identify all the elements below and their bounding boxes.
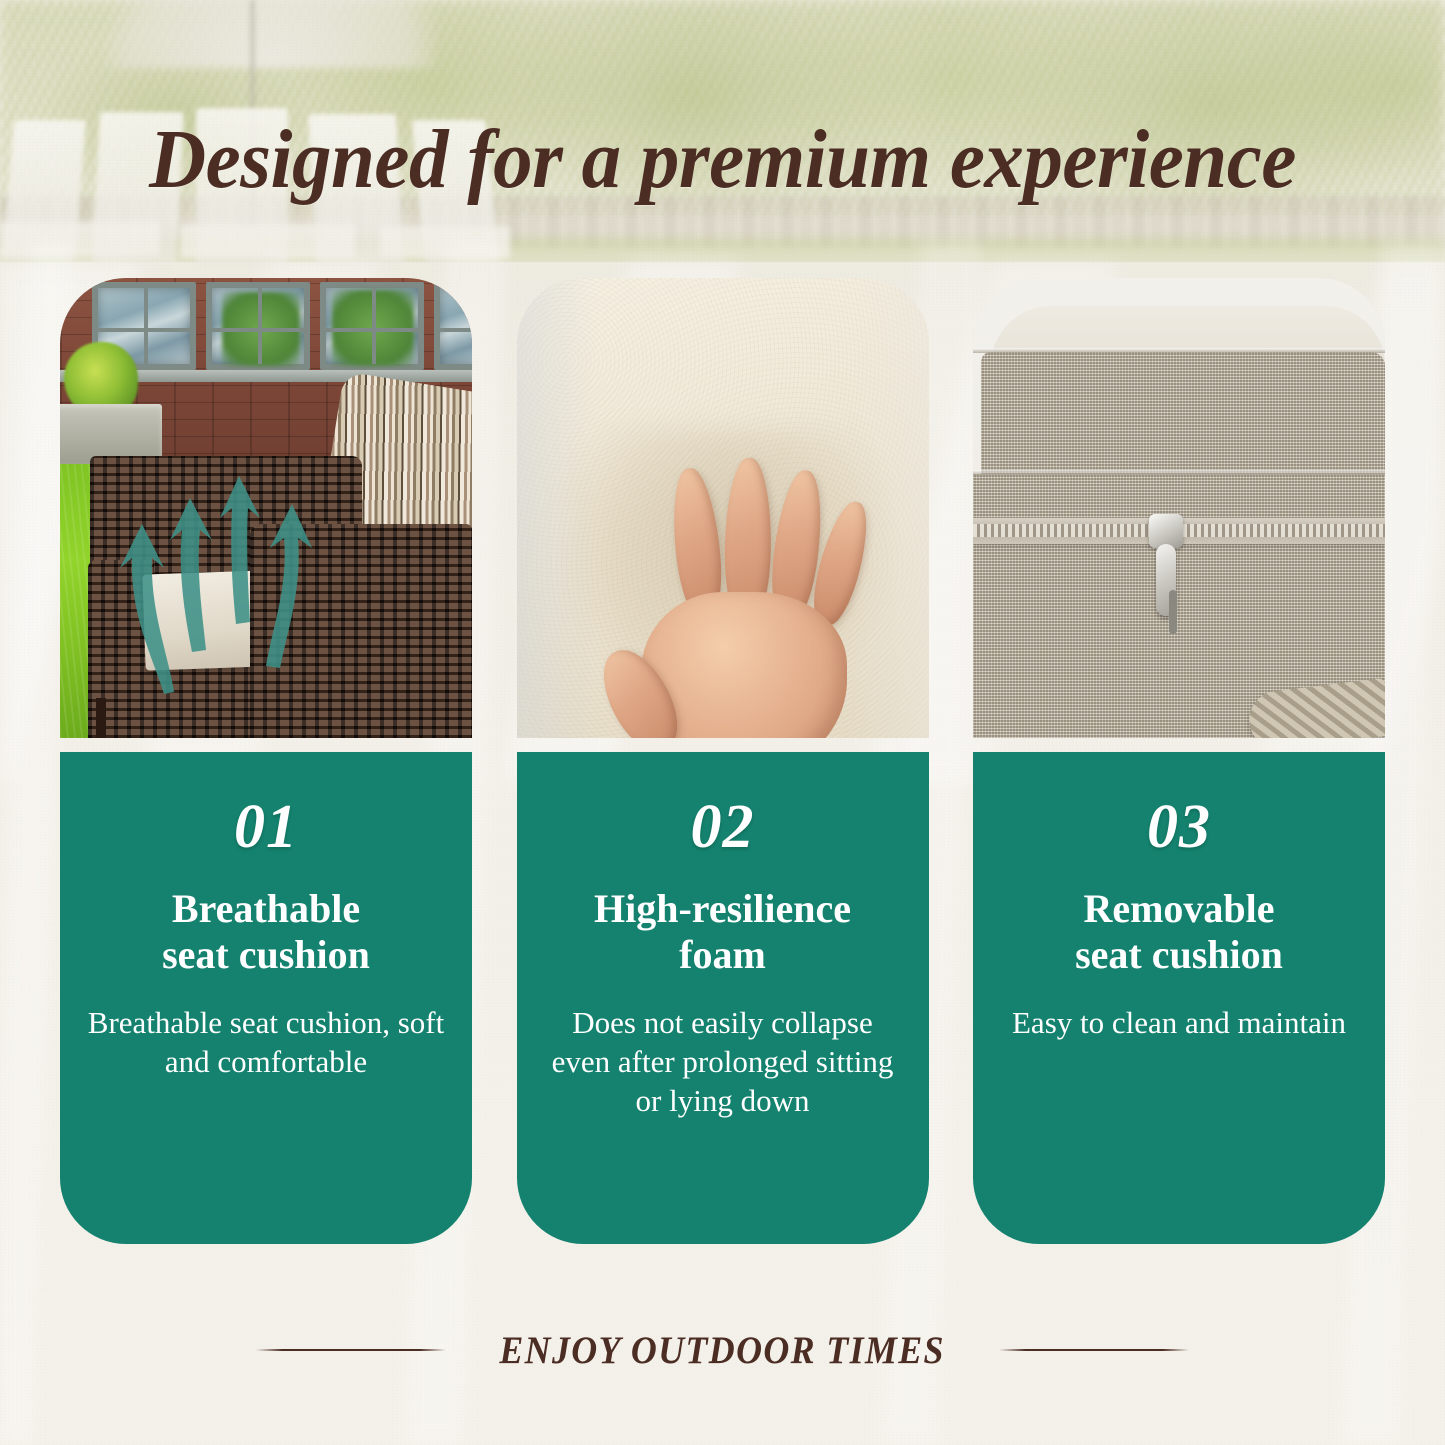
photo-high-resilience-foam (517, 278, 929, 738)
zipper-slider (1149, 514, 1183, 548)
feature-card-01: 01 Breathable seat cushion Breathable se… (60, 278, 472, 1244)
feature-card-02: 02 High-resilience foam Does not easily … (517, 278, 929, 1244)
feature-description: Does not easily collapse even after prol… (541, 1003, 905, 1120)
backdrop-umbrella-canopy (105, 0, 445, 68)
page-headline: Designed for a premium experience (43, 118, 1401, 202)
photo1-window (434, 282, 472, 370)
photo1-window (320, 282, 424, 370)
photo3-cushion-upper-panel (981, 352, 1385, 488)
feature-card-03: 03 Removable seat cushion Easy to clean … (973, 278, 1385, 1244)
feature-title-line-2: foam (541, 932, 905, 978)
feature-title-line-1: High-resilience (541, 886, 905, 932)
feature-title-line-1: Breathable (84, 886, 448, 932)
feature-panel-01: 01 Breathable seat cushion Breathable se… (60, 752, 472, 1244)
feature-title: High-resilience foam (541, 886, 905, 977)
feature-panel-03: 03 Removable seat cushion Easy to clean … (973, 752, 1385, 1244)
feature-title-line-2: seat cushion (997, 932, 1361, 978)
feature-number: 01 (84, 796, 448, 858)
product-feature-poster: Designed for a premium experience (0, 0, 1445, 1445)
feature-card-row: 01 Breathable seat cushion Breathable se… (60, 278, 1385, 1244)
zipper-tab-hole (1169, 590, 1177, 634)
photo1-stone-planter (60, 404, 162, 464)
photo1-window (206, 282, 310, 370)
feature-title: Removable seat cushion (997, 886, 1361, 977)
photo1-chair-leg (96, 698, 106, 738)
feature-number: 02 (541, 796, 905, 858)
photo-breathable-seat-cushion (60, 278, 472, 738)
feature-description: Breathable seat cushion, soft and comfor… (84, 1003, 448, 1081)
footer-rule-left (256, 1349, 446, 1351)
photo-removable-seat-cushion (973, 278, 1385, 738)
footer-rule-right (999, 1349, 1189, 1351)
footer-banner: ENJOY OUTDOOR TIMES (0, 1322, 1445, 1378)
footer-tagline: ENJOY OUTDOOR TIMES (500, 1328, 946, 1373)
feature-title-line-2: seat cushion (84, 932, 448, 978)
photo3-seam (973, 348, 1385, 353)
zipper-pull-icon (1149, 514, 1183, 618)
feature-title: Breathable seat cushion (84, 886, 448, 977)
feature-number: 03 (997, 796, 1361, 858)
feature-description: Easy to clean and maintain (997, 1003, 1361, 1042)
airflow-arrow-icon (260, 490, 322, 670)
feature-title-line-1: Removable (997, 886, 1361, 932)
feature-panel-02: 02 High-resilience foam Does not easily … (517, 752, 929, 1244)
zipper-tab (1156, 544, 1176, 616)
photo3-seam (973, 470, 1385, 475)
photo2-hand (577, 474, 877, 738)
